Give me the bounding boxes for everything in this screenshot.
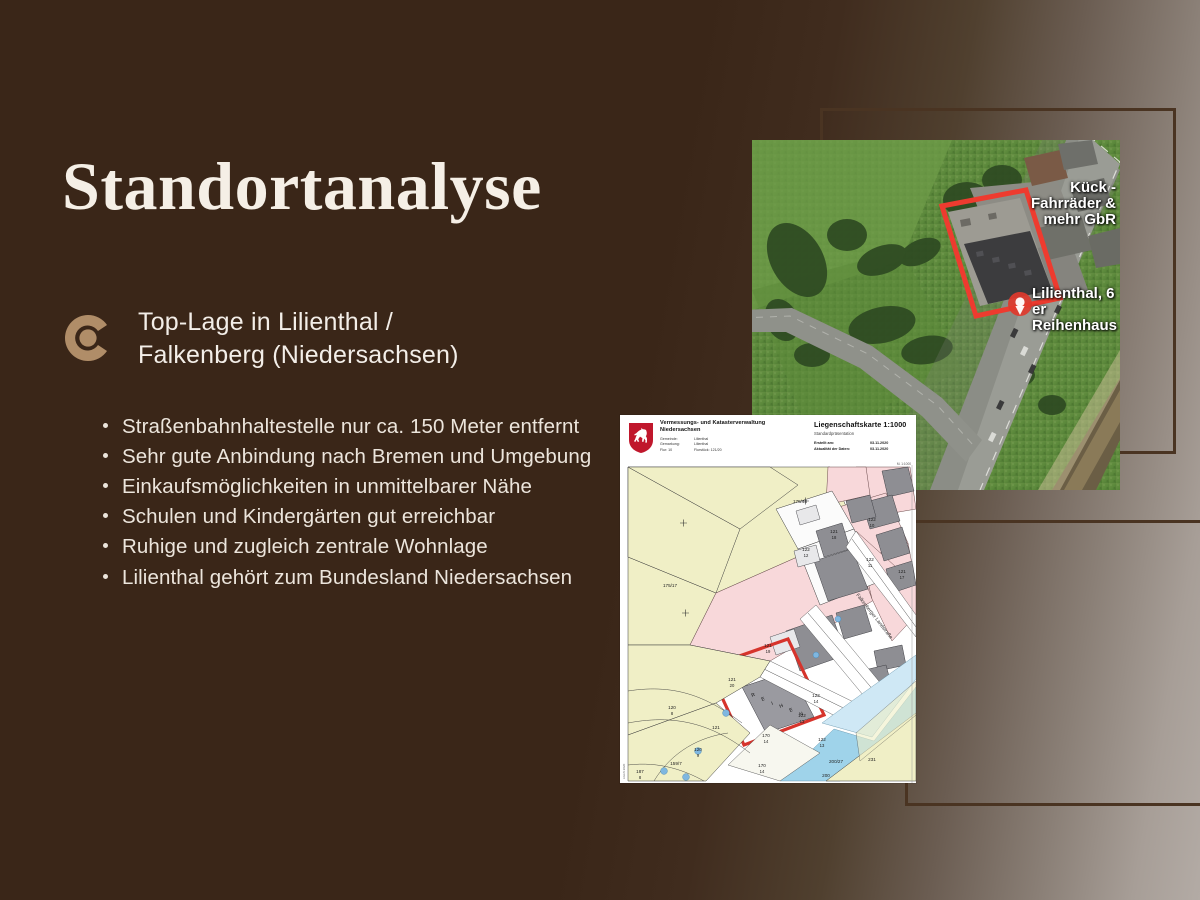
- svg-text:10: 10: [870, 523, 875, 528]
- svg-text:14: 14: [764, 739, 769, 744]
- niedersachsen-horse-crest-icon: [628, 422, 654, 454]
- svg-text:122: 122: [812, 693, 820, 698]
- subtitle-block: Top-Lage in Lilienthal / Falkenberg (Nie…: [62, 306, 459, 372]
- svg-text:122: 122: [866, 557, 874, 562]
- list-item: Sehr gute Anbindung nach Bremen und Umge…: [122, 442, 622, 471]
- svg-text:13: 13: [820, 743, 825, 748]
- cadastral-meta-row: Flur: 10 Flurstück: 121/20: [660, 448, 808, 453]
- svg-text:200: 200: [822, 773, 830, 778]
- list-item: Straßenbahnhaltestelle nur ca. 150 Meter…: [122, 412, 622, 441]
- cadastral-map-card: Vermessungs- und Katasterverwaltung Nied…: [620, 415, 916, 783]
- cadastral-date-row: Aktualität der Daten: 03.11.2020: [814, 447, 910, 453]
- cadastral-meta-key: Flur: 10: [660, 448, 694, 453]
- svg-text:11: 11: [868, 563, 873, 568]
- svg-text:120: 120: [668, 705, 676, 710]
- svg-text:12: 12: [804, 553, 809, 558]
- parcel-number: 175/48: [793, 499, 807, 504]
- list-item: Ruhige und zugleich zentrale Wohnlage: [122, 532, 622, 561]
- cadastral-date-value: 03.11.2020: [870, 447, 888, 453]
- svg-text:13: 13: [800, 719, 805, 724]
- svg-text:17: 17: [900, 575, 905, 580]
- cadastral-dates: Erstellt am: 03.11.2020 Aktualität der D…: [814, 441, 910, 453]
- cadastral-title-block: Liegenschaftskarte 1:1000 Standardpräsen…: [808, 420, 910, 465]
- svg-text:120: 120: [694, 747, 702, 752]
- page-title: Standortanalyse: [62, 152, 542, 220]
- svg-text:20: 20: [730, 683, 735, 688]
- aerial-label-kueck-line3: mehr GbR: [1031, 212, 1116, 228]
- benefits-list: Straßenbahnhaltestelle nur ca. 150 Meter…: [96, 412, 622, 593]
- subtitle-line-2: Falkenberg (Niedersachsen): [138, 339, 459, 372]
- svg-text:121: 121: [712, 725, 720, 730]
- decorative-frame-bottom: [905, 520, 1200, 806]
- aerial-label-reihenhaus-line2: er Reihenhaus: [1032, 302, 1120, 334]
- cadastral-date-key: Aktualität der Daten:: [814, 447, 870, 453]
- subtitle-text: Top-Lage in Lilienthal / Falkenberg (Nie…: [138, 306, 459, 372]
- aerial-label-reihenhaus-line1: Lilienthal, 6: [1032, 286, 1120, 302]
- list-item: Schulen und Kindergärten gut erreichbar: [122, 502, 622, 531]
- svg-text:122: 122: [818, 737, 826, 742]
- cadastral-side-note: LGLN 2020: [622, 733, 628, 779]
- aerial-label-kueck-line1: Kück -: [1031, 180, 1116, 196]
- svg-text:122: 122: [868, 517, 876, 522]
- target-c-logo-icon: [62, 312, 114, 364]
- cadastral-org-block: Vermessungs- und Katasterverwaltung Nied…: [660, 420, 808, 465]
- aerial-label-kueck: Kück - Fahrräder & mehr GbR: [1031, 180, 1116, 229]
- cadastral-header: Vermessungs- und Katasterverwaltung Nied…: [620, 415, 916, 465]
- cadastral-meta-value: Flurstück: 121/20: [694, 448, 732, 453]
- svg-text:159/7: 159/7: [670, 761, 682, 766]
- subtitle-line-1: Top-Lage in Lilienthal /: [138, 306, 459, 339]
- list-item: Lilienthal gehört zum Bundesland Nieders…: [122, 563, 622, 592]
- svg-text:170: 170: [758, 763, 766, 768]
- svg-text:122: 122: [798, 713, 806, 718]
- svg-text:170: 170: [762, 733, 770, 738]
- cadastral-presentation: Standardpräsentation: [814, 431, 910, 436]
- cadastral-map-kind: Liegenschaftskarte 1:1000: [814, 420, 910, 429]
- svg-text:122: 122: [802, 547, 810, 552]
- svg-text:18: 18: [832, 535, 837, 540]
- cadastral-org-line1: Vermessungs- und Katasterverwaltung: [660, 420, 808, 427]
- aerial-label-kueck-line2: Fahrräder &: [1031, 196, 1116, 212]
- slide-canvas: Kück - Fahrräder & mehr GbR Lilienthal, …: [0, 0, 1200, 900]
- svg-text:121: 121: [764, 643, 772, 648]
- cadastral-org-name: Vermessungs- und Katasterverwaltung Nied…: [660, 420, 808, 434]
- aerial-label-reihenhaus: Lilienthal, 6 er Reihenhaus: [1032, 286, 1120, 335]
- svg-text:121: 121: [830, 529, 838, 534]
- cadastral-org-line2: Niedersachsen: [660, 427, 808, 434]
- svg-text:200/27: 200/27: [829, 759, 843, 764]
- svg-text:14: 14: [814, 699, 819, 704]
- svg-text:187: 187: [636, 769, 644, 774]
- svg-text:231: 231: [868, 757, 876, 762]
- svg-text:14: 14: [760, 769, 765, 774]
- svg-text:19: 19: [766, 649, 771, 654]
- cadastral-map-body: R E I H E N Falkenberger Landstraße: [620, 465, 916, 783]
- parcel-number: 175/17: [663, 583, 677, 588]
- cadastral-meta-list: Gemeinde: Lilienthal Gemarkung: Lilienth…: [660, 437, 808, 453]
- list-item: Einkaufsmöglichkeiten in unmittelbarer N…: [122, 472, 622, 501]
- svg-text:121: 121: [728, 677, 736, 682]
- svg-text:121: 121: [898, 569, 906, 574]
